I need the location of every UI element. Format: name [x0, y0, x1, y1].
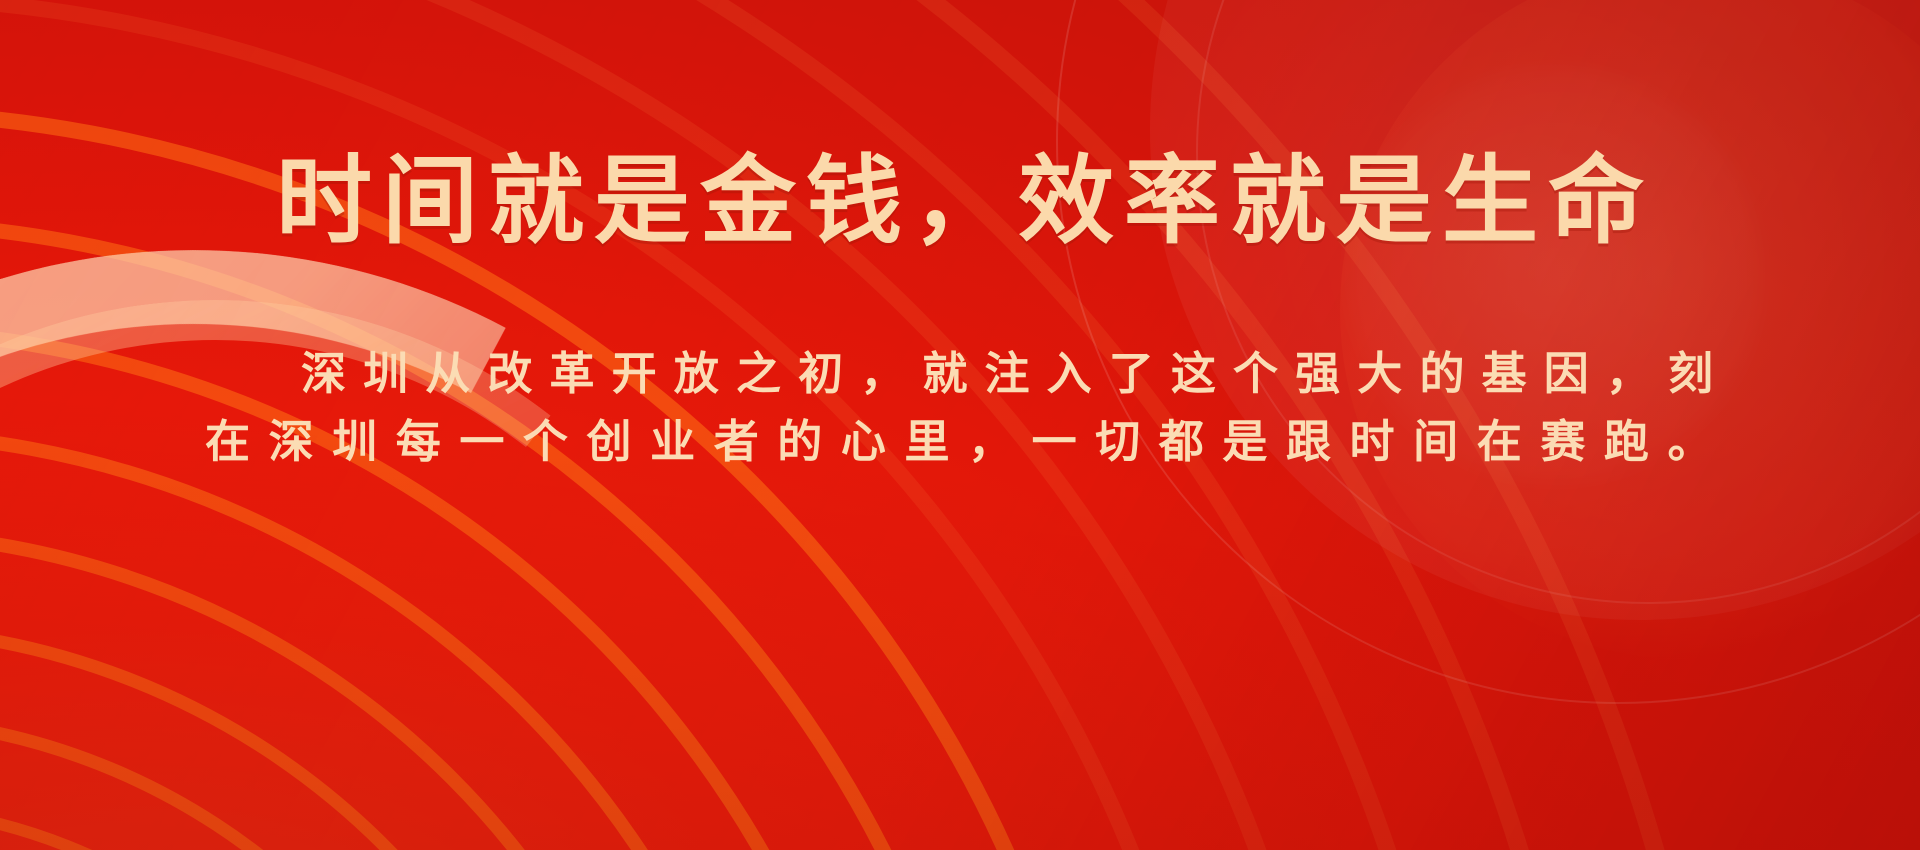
- banner-subtitle-line-1: 深圳从改革开放之初，就注入了这个强大的基因，刻: [205, 340, 1715, 408]
- banner-subtitle-line-2: 在深圳每一个创业者的心里，一切都是跟时间在赛跑。: [205, 408, 1715, 476]
- banner-subtitle: 深圳从改革开放之初，就注入了这个强大的基因，刻 在深圳每一个创业者的心里，一切都…: [205, 340, 1715, 477]
- banner-title: 时间就是金钱，效率就是生命: [266, 152, 1654, 252]
- banner-content: 时间就是金钱，效率就是生命 深圳从改革开放之初，就注入了这个强大的基因，刻 在深…: [0, 0, 1920, 850]
- poster-banner: 时间就是金钱，效率就是生命 深圳从改革开放之初，就注入了这个强大的基因，刻 在深…: [0, 0, 1920, 850]
